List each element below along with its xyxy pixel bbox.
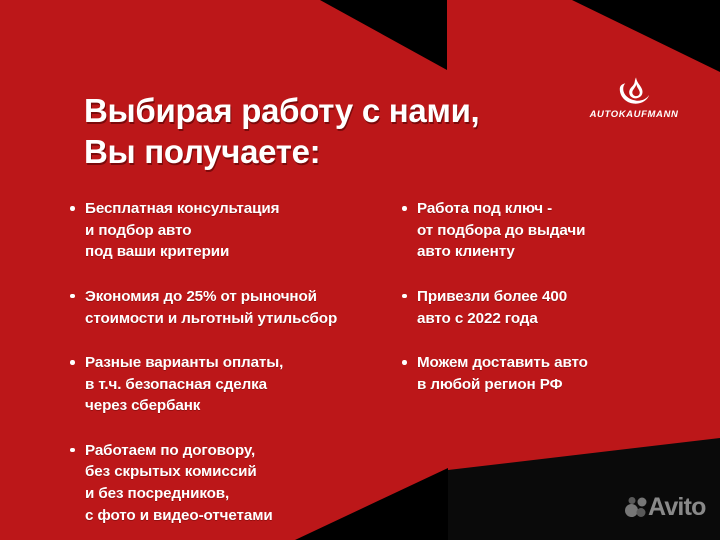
benefit-item: Экономия до 25% от рыночной стоимости и …	[68, 286, 398, 329]
flame-swoosh-icon	[617, 76, 651, 107]
benefit-item: Можем доставить авто в любой регион РФ	[400, 352, 700, 395]
benefits-right-column: Работа под ключ - от подбора до выдачи а…	[400, 183, 700, 418]
benefit-item: Бесплатная консультация и подбор авто по…	[68, 198, 398, 263]
benefit-item: Работаем по договору, без скрытых комисс…	[68, 440, 398, 526]
benefit-item: Разные варианты оплаты, в т.ч. безопасна…	[68, 352, 398, 417]
benefit-item: Работа под ключ - от подбора до выдачи а…	[400, 198, 700, 263]
brand-wordmark: AUTOKAUFMANN	[578, 109, 690, 120]
promo-banner: Выбирая работу с нами, Вы получаете: AUT…	[0, 0, 720, 540]
benefits-left-column: Бесплатная консультация и подбор авто по…	[68, 183, 398, 540]
avito-label: Avito	[648, 496, 706, 518]
brand-logo: AUTOKAUFMANN	[578, 76, 690, 130]
avito-watermark: Avito	[625, 496, 706, 518]
benefit-item: Привезли более 400 авто с 2022 года	[400, 286, 700, 329]
avito-dots-icon	[625, 496, 647, 518]
page-title: Выбирая работу с нами, Вы получаете:	[84, 90, 584, 173]
